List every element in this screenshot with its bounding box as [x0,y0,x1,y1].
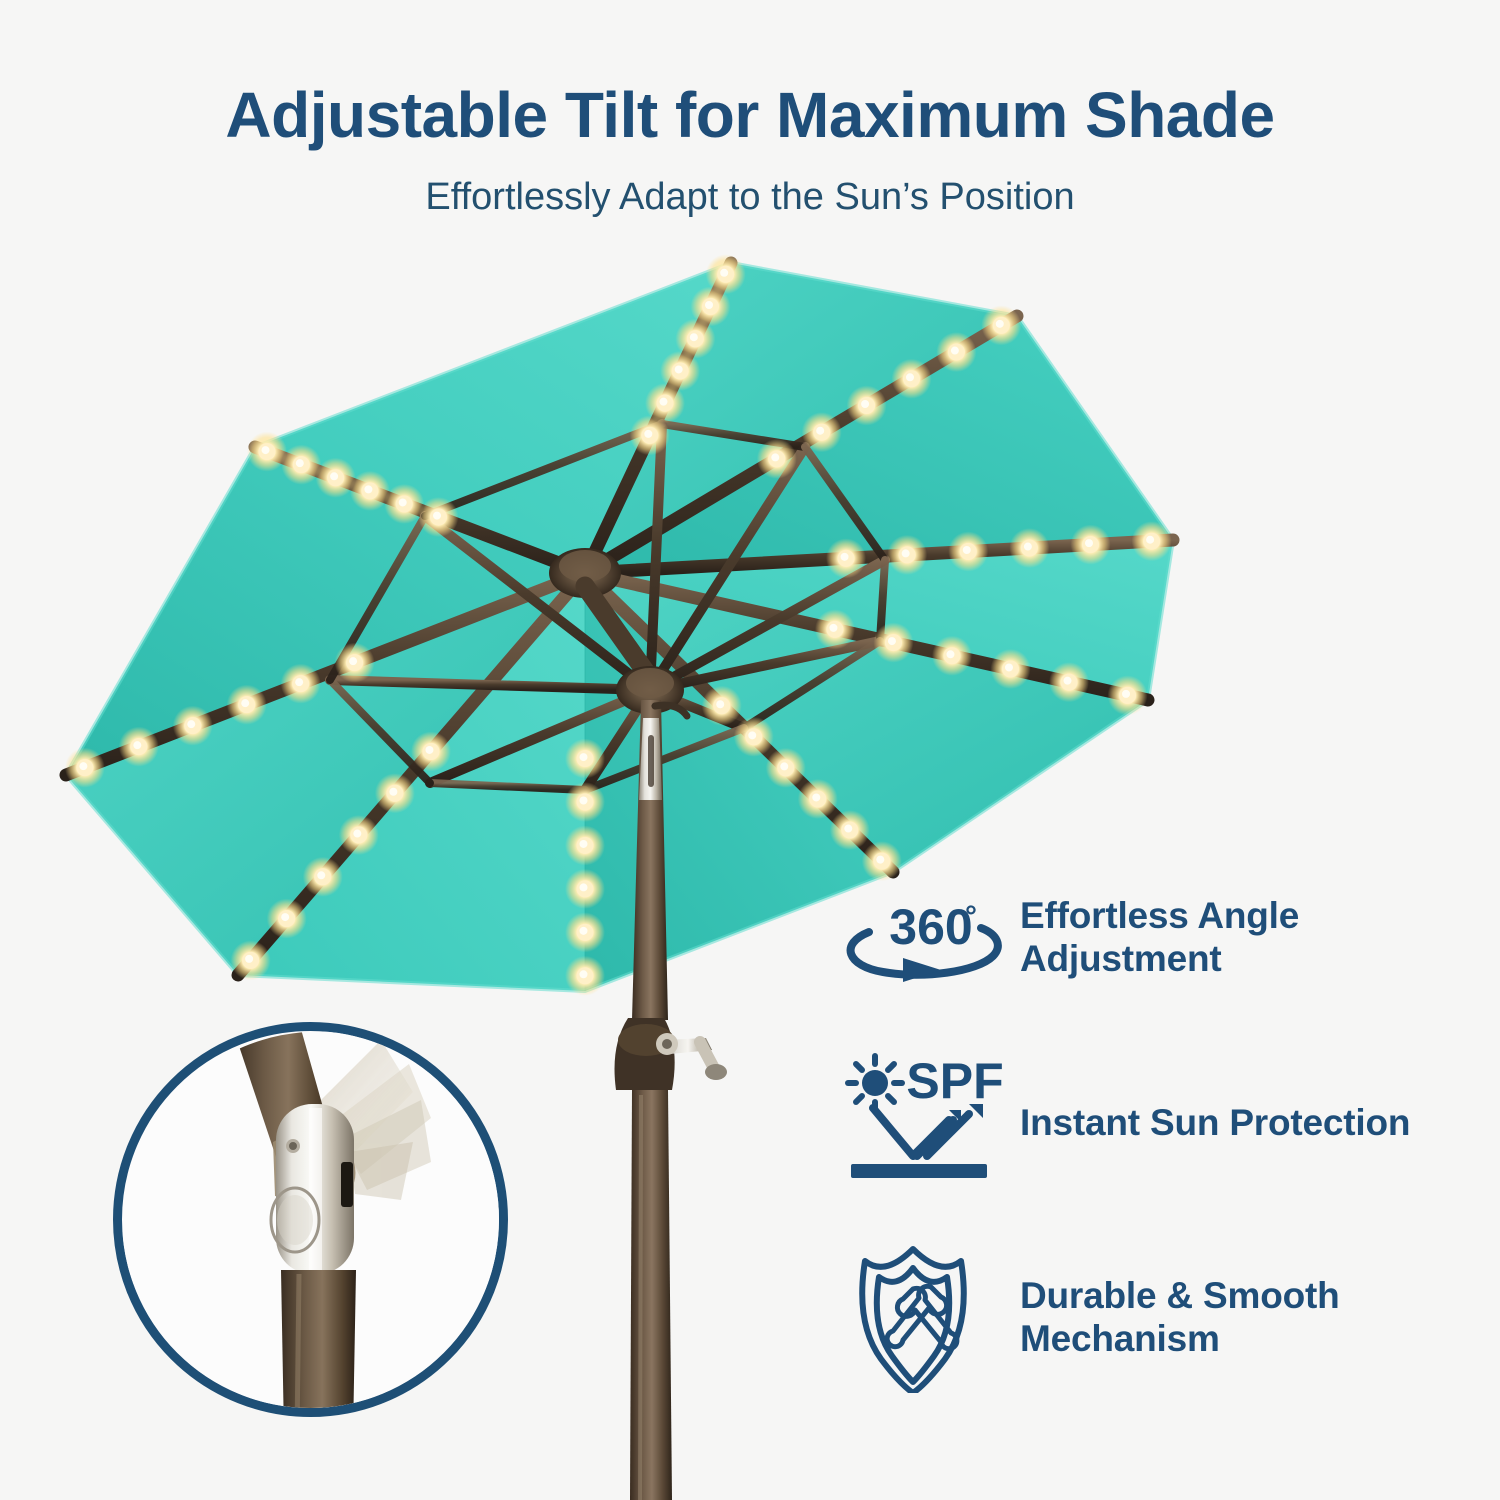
sun-icon [848,1056,902,1110]
feature-line-1: Effortless Angle [1020,895,1299,936]
360-icon-text: 360 [889,899,972,955]
spf-icon-text: SPF [906,1053,1003,1109]
spf-sun-protection-icon: SPF [840,1048,1020,1198]
feature-label-sun-protection: Instant Sun Protection [1020,1102,1410,1145]
feature-line-2: Adjustment [1020,938,1299,981]
inset-lower-pole [281,1270,356,1417]
feature-line-2: Mechanism [1020,1318,1340,1361]
tilt-mechanism-closeup [113,1022,508,1417]
lower-pole [630,1090,672,1500]
feature-item-durability: Durable & Smooth Mechanism [840,1243,1340,1393]
feature-label-durability: Durable & Smooth Mechanism [1020,1275,1340,1361]
feature-item-angle-adjustment: 360 ° Effortless Angle Adjustment [840,888,1299,988]
shield-wrench-durability-icon [840,1243,1020,1393]
feature-item-sun-protection: SPF Instant Sun Protection [840,1048,1410,1198]
feature-line-1: Instant Sun Protection [1020,1102,1410,1143]
degree-symbol: ° [965,900,977,933]
feature-line-1: Durable & Smooth [1020,1275,1340,1316]
surface-bar [851,1164,987,1178]
product-feature-graphic: Adjustable Tilt for Maximum Shade Effort… [0,0,1500,1500]
feature-label-angle-adjustment: Effortless Angle Adjustment [1020,895,1299,981]
360-degree-rotation-icon: 360 ° [840,888,1020,988]
